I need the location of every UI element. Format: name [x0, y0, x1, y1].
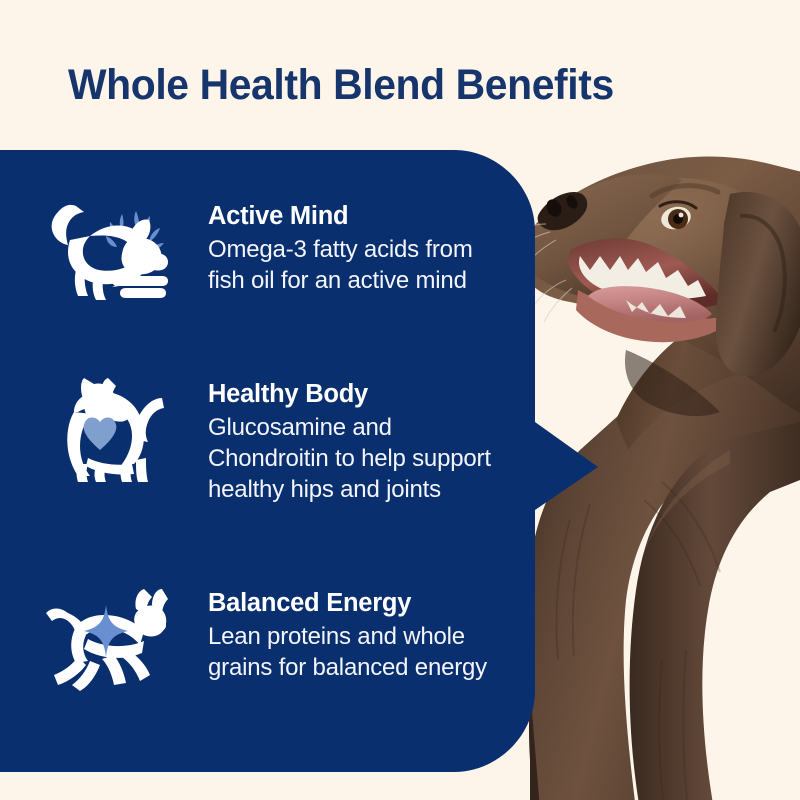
benefit-title: Balanced Energy — [208, 589, 508, 618]
benefit-title: Active Mind — [208, 202, 508, 231]
benefit-description: Lean proteins and whole grains for balan… — [208, 621, 508, 683]
page-title: Whole Health Blend Benefits — [68, 62, 614, 108]
benefit-description: Glucosamine and Chondroitin to help supp… — [208, 412, 508, 506]
promo-graphic: Whole Health Blend Benefits — [0, 0, 800, 800]
benefit-item-active-mind: Active Mind Omega-3 fatty acids from fis… — [44, 200, 544, 304]
benefit-title: Healthy Body — [208, 380, 508, 409]
benefit-text: Active Mind Omega-3 fatty acids from fis… — [208, 200, 508, 296]
benefit-item-balanced-energy: Balanced Energy Lean proteins and whole … — [44, 587, 544, 691]
benefits-list: Active Mind Omega-3 fatty acids from fis… — [0, 150, 560, 772]
benefit-item-healthy-body: Healthy Body Glucosamine and Chondroitin… — [44, 378, 544, 505]
playful-dog-icon — [44, 200, 168, 304]
benefit-description: Omega-3 fatty acids from fish oil for an… — [208, 234, 508, 296]
benefit-text: Balanced Energy Lean proteins and whole … — [208, 587, 508, 683]
running-dog-with-sparkle-icon — [44, 587, 168, 691]
benefit-text: Healthy Body Glucosamine and Chondroitin… — [208, 378, 508, 505]
dog-with-heart-icon — [44, 378, 168, 482]
